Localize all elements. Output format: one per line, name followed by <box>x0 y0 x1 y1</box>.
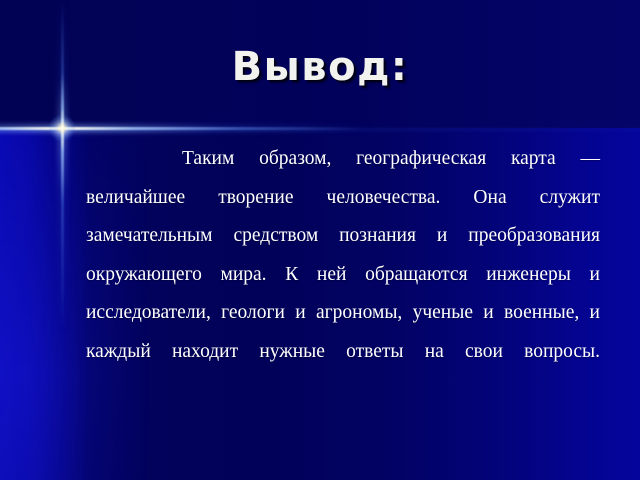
slide-title: Вывод: <box>0 44 640 90</box>
presentation-slide: Вывод: Таким образом, географическая кар… <box>0 0 640 480</box>
slide-body-paragraph: Таким образом, географическая карта — ве… <box>86 140 600 410</box>
slide-body-block: Таким образом, географическая карта — ве… <box>86 140 600 410</box>
slide-background-horizon-seam <box>0 126 640 134</box>
